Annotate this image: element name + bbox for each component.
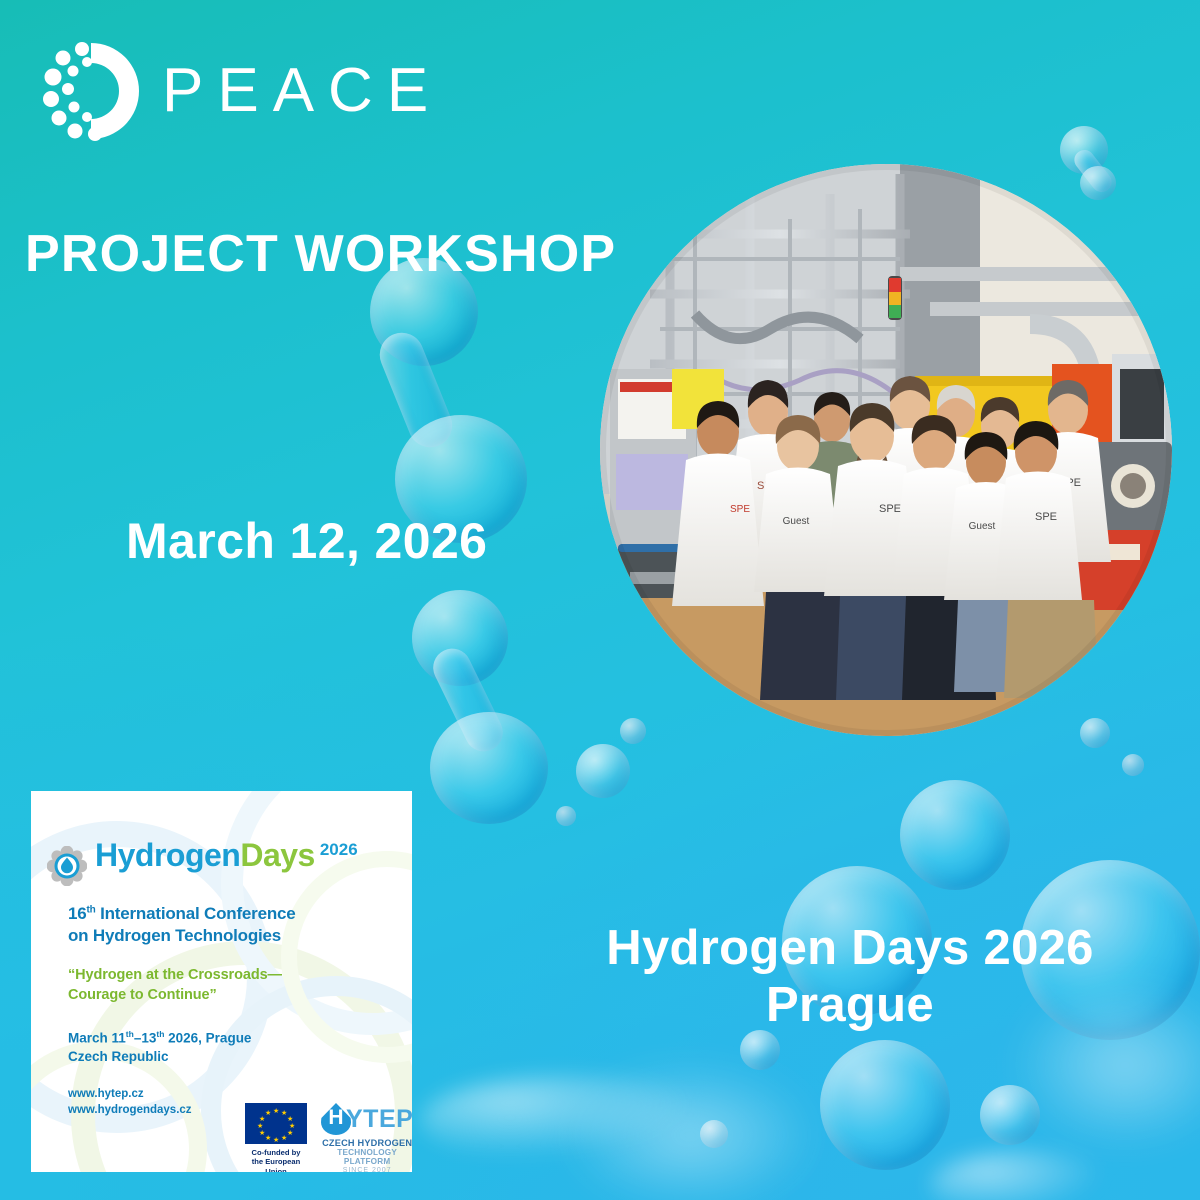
svg-text:Guest: Guest: [783, 516, 810, 527]
conference-urls[interactable]: www.hytep.cz www.hydrogendays.cz: [68, 1087, 192, 1118]
hydrogen-days-logo: HydrogenDays 2026: [47, 839, 358, 886]
slogan-line2: Courage to Continue”: [68, 985, 282, 1005]
svg-text:SPE: SPE: [1035, 511, 1057, 523]
url-hydrogendays[interactable]: www.hydrogendays.cz: [68, 1103, 192, 1119]
conference-line1-rest: International Conference: [96, 904, 296, 923]
group-photo: SPE SPE: [600, 164, 1172, 736]
conference-dates: March 11th–13th 2026, Prague Czech Repub…: [68, 1029, 251, 1067]
dates-mid: –13: [134, 1031, 157, 1046]
hd-title-hydrogen: Hydrogen: [95, 837, 240, 873]
eu-caption-line2: the European Union: [245, 1157, 307, 1172]
eu-flag-icon: ★ ★ ★ ★ ★ ★ ★ ★ ★ ★ ★ ★: [245, 1103, 307, 1144]
water-molecule-blob: [1080, 718, 1110, 748]
hydrogendays-atom-droplet-icon: [47, 846, 87, 886]
poster-sponsor-logos: ★ ★ ★ ★ ★ ★ ★ ★ ★ ★ ★ ★ Co-funded: [245, 1103, 412, 1172]
water-molecule-blob: [1080, 166, 1116, 200]
slogan-line1: “Hydrogen at the Crossroads—: [68, 965, 282, 985]
eu-funding-caption: Co-funded by the European Union: [245, 1148, 307, 1172]
eu-caption-line1: Co-funded by: [245, 1148, 307, 1157]
conference-subtitle: 16th International Conference on Hydroge…: [68, 903, 296, 947]
conference-country: Czech Republic: [68, 1049, 169, 1064]
conference-ordinal-suffix: th: [87, 904, 96, 915]
water-molecule-blob: [620, 718, 646, 744]
hytep-wordmark: YTEP: [346, 1107, 412, 1132]
eu-funding-logo: ★ ★ ★ ★ ★ ★ ★ ★ ★ ★ ★ ★ Co-funded: [245, 1103, 307, 1172]
svg-text:SPE: SPE: [879, 503, 901, 515]
svg-text:Guest: Guest: [969, 521, 996, 532]
conference-ordinal: 16: [68, 904, 87, 923]
swirl-highlight: [420, 1075, 720, 1165]
peace-logo[interactable]: PEACE: [36, 36, 442, 146]
swirl-highlight: [930, 1150, 1120, 1200]
hytep-line3: SINCE 2007: [321, 1167, 412, 1172]
water-molecule-blob: [740, 1030, 780, 1070]
dates-prefix: March 11: [68, 1031, 126, 1046]
svg-text:SPE: SPE: [730, 504, 750, 515]
url-hytep[interactable]: www.hytep.cz: [68, 1087, 192, 1103]
water-molecule-blob: [820, 1040, 950, 1170]
conference-slogan: “Hydrogen at the Crossroads— Courage to …: [68, 965, 282, 1006]
water-molecule-blob: [1122, 754, 1144, 776]
event-name-line1: Hydrogen Days 2026: [520, 920, 1180, 977]
water-molecule-blob: [900, 780, 1010, 890]
hytep-line1: CZECH HYDROGEN: [321, 1138, 412, 1148]
peace-logo-icon: [36, 36, 146, 146]
hydrogen-days-poster-card[interactable]: HydrogenDays 2026 16th International Con…: [31, 791, 412, 1172]
hytep-logo: YTEP CZECH HYDROGEN TECHNOLOGY PLATFORM …: [321, 1103, 412, 1172]
hytep-line2: TECHNOLOGY PLATFORM: [321, 1148, 412, 1166]
event-name: Hydrogen Days 2026 Prague: [520, 920, 1180, 1034]
page-title: PROJECT WORKSHOP: [25, 228, 616, 280]
peace-logo-wordmark: PEACE: [162, 60, 442, 122]
dates-suffix: 2026, Prague: [164, 1031, 251, 1046]
hd-title-days: Days: [240, 837, 315, 873]
event-name-line2: Prague: [520, 977, 1180, 1034]
workshop-announcement-poster: PEACE PROJECT WORKSHOP March 12, 2026 Hy…: [0, 0, 1200, 1200]
conference-line2: on Hydrogen Technologies: [68, 926, 281, 945]
dates-sup1: th: [126, 1029, 134, 1039]
water-molecule-blob: [556, 806, 576, 826]
workshop-date: March 12, 2026: [126, 516, 487, 566]
water-molecule-blob: [576, 744, 630, 798]
water-molecule-blob: [430, 712, 548, 824]
hd-year: 2026: [320, 840, 358, 860]
